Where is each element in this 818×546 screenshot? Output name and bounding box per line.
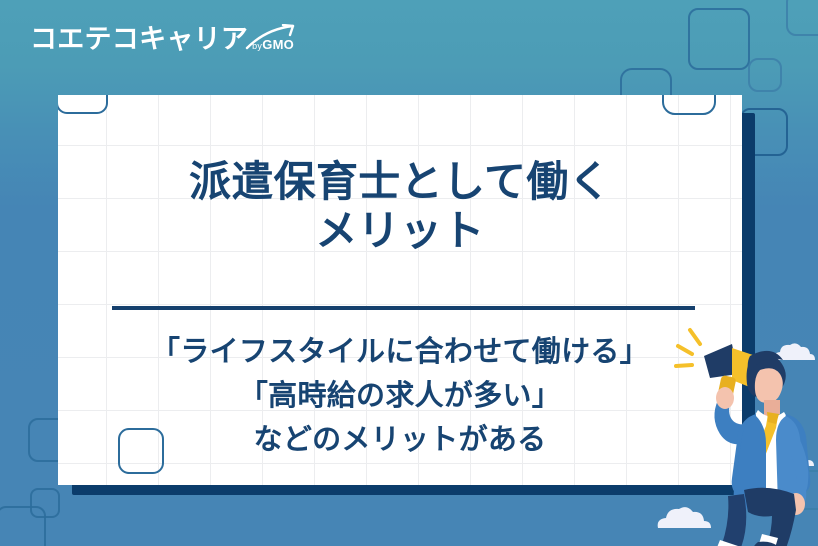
title-divider <box>112 306 695 310</box>
body-line-3: などのメリットがある <box>58 418 742 462</box>
title-line-2: メリット <box>58 207 742 256</box>
rounded-square-icon <box>0 506 46 546</box>
rounded-square-icon <box>662 95 716 115</box>
sound-lines-icon <box>676 330 700 366</box>
rounded-square-icon <box>748 58 782 92</box>
logo-wordmark: コエテコキャリア <box>30 26 248 53</box>
body-line-2: 「高時給の求人が多い」 <box>58 374 742 418</box>
body-text: 「ライフスタイルに合わせて働ける」 「高時給の求人が多い」 などのメリットがある <box>58 330 742 462</box>
thumbnail-canvas: 派遣保育士として働く メリット 「ライフスタイルに合わせて働ける」 「高時給の求… <box>0 0 818 546</box>
businessman-with-megaphone-illustration <box>660 318 818 546</box>
rounded-square-icon <box>786 0 818 36</box>
arrow-swoosh-icon <box>245 24 297 50</box>
brand-logo[interactable]: コエテコキャリア byGMO <box>30 26 294 53</box>
rounded-square-icon <box>688 8 750 70</box>
rounded-square-icon <box>58 95 108 114</box>
logo-text: コエテコキャリア <box>30 24 248 55</box>
page-title: 派遣保育士として働く メリット <box>58 158 742 255</box>
title-line-1: 派遣保育士として働く <box>58 158 742 207</box>
body-line-1: 「ライフスタイルに合わせて働ける」 <box>58 330 742 374</box>
